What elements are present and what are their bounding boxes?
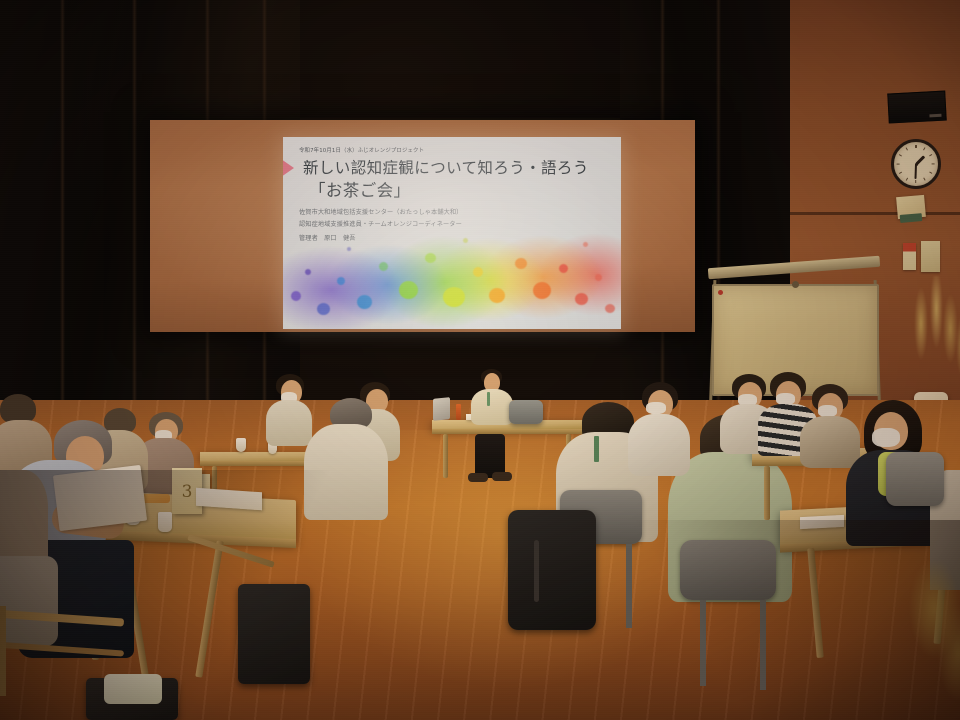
slide-subtitle-2: 認知症地域支援推進員・チームオレンジコーディネーター (299, 219, 462, 228)
slide-subtitle-3: 管理者 原口 健吾 (299, 233, 356, 242)
slide-date-line: 令和7年10月1日（水）ふじオレンジプロジェクト (299, 146, 424, 154)
chair (509, 400, 543, 424)
backpack-on-floor (508, 510, 596, 630)
wall-notice-red (903, 243, 916, 270)
drink-bottle (456, 404, 461, 420)
laptop-computer (433, 397, 450, 421)
rainbow-splatter-graphic (283, 211, 621, 329)
floor-shadow-right (620, 520, 960, 720)
slide-subtitle-1: 佐賀市大和地域包括支援センター（おたっしゃ本舗大和） (299, 207, 462, 216)
ceiling-speaker-icon (887, 91, 946, 124)
photo-scene: 令和7年10月1日（水）ふじオレンジプロジェクト 新しい認知症観について知ろう・… (0, 0, 960, 720)
wall-clock-icon (891, 139, 941, 189)
slide-title-line-1: 新しい認知症観について知ろう・語ろう (303, 156, 589, 178)
projected-slide: 令和7年10月1日（水）ふじオレンジプロジェクト 新しい認知症観について知ろう・… (283, 137, 621, 329)
wall-notice-upper (896, 195, 926, 219)
floor-shadow-left (0, 470, 330, 720)
pampas-grass (900, 276, 960, 401)
wall-notice-lower (921, 241, 940, 272)
paper-cup (236, 438, 246, 452)
slide-triangle-marker (283, 159, 294, 177)
slide-title-line-2: 「お茶ご会」 (309, 177, 410, 201)
